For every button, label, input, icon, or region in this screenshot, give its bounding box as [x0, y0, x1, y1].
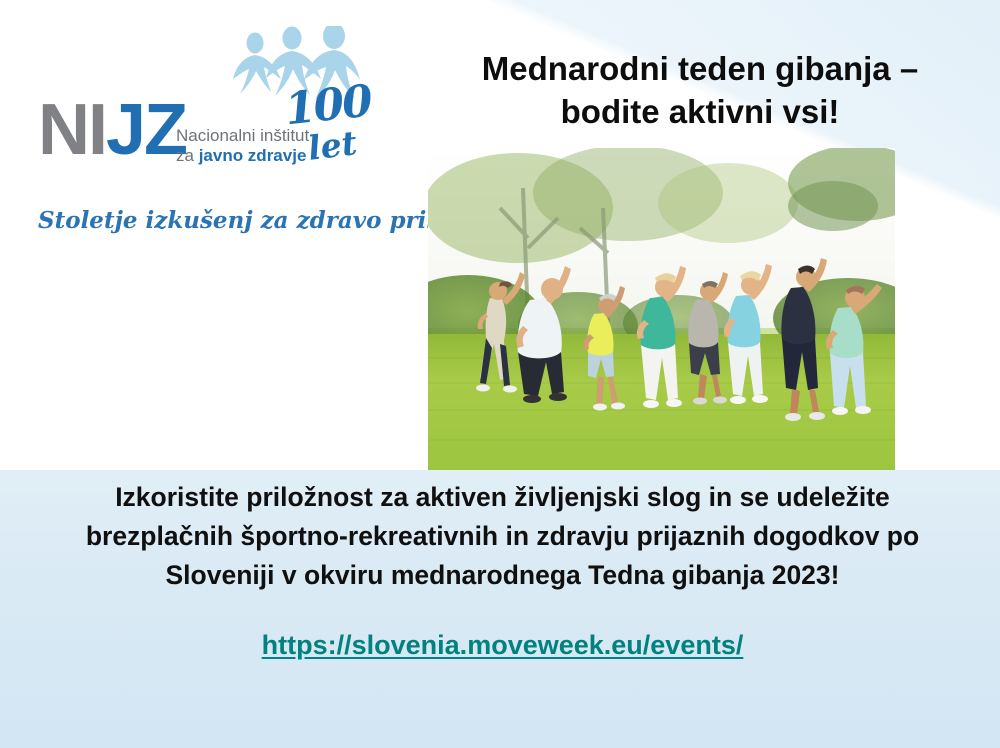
body-line-3: Sloveniji v okviru mednarodnega Tedna gi… [45, 556, 960, 595]
body-line-1: Izkoristite priložnost za aktiven življe… [45, 478, 960, 517]
institute-name: Nacionalni inštitut za javno zdravje [176, 126, 309, 166]
logo-ni-text: NI [38, 96, 106, 164]
page-title-line1: Mednarodni teden gibanja – [400, 48, 1000, 91]
event-link-container: https://slovenia.moveweek.eu/events/ [45, 630, 960, 661]
event-link[interactable]: https://slovenia.moveweek.eu/events/ [262, 630, 744, 660]
institute-name-line2: za javno zdravje [176, 146, 309, 166]
people-exercising-photo [428, 148, 895, 470]
page-title: Mednarodni teden gibanja – bodite aktivn… [400, 48, 1000, 134]
nijz-logo: 100 let NI JZ Nacionalni inštitut za jav… [30, 26, 375, 241]
nijz-wordmark: NI JZ [38, 96, 186, 164]
anniversary-number: 100 [283, 84, 372, 129]
slide-canvas: 100 let NI JZ Nacionalni inštitut za jav… [0, 0, 1000, 748]
institute-name-prefix: za [176, 146, 199, 165]
logo-jz-text: JZ [106, 96, 186, 164]
anniversary-unit: let [306, 123, 359, 168]
institute-name-line1: Nacionalni inštitut [176, 126, 309, 146]
page-title-line2: bodite aktivni vsi! [400, 91, 1000, 134]
institute-name-highlight: javno zdravje [199, 146, 307, 165]
body-line-2: brezplačnih športno-rekreativnih in zdra… [45, 517, 960, 556]
body-paragraph: Izkoristite priložnost za aktiven življe… [45, 478, 960, 596]
